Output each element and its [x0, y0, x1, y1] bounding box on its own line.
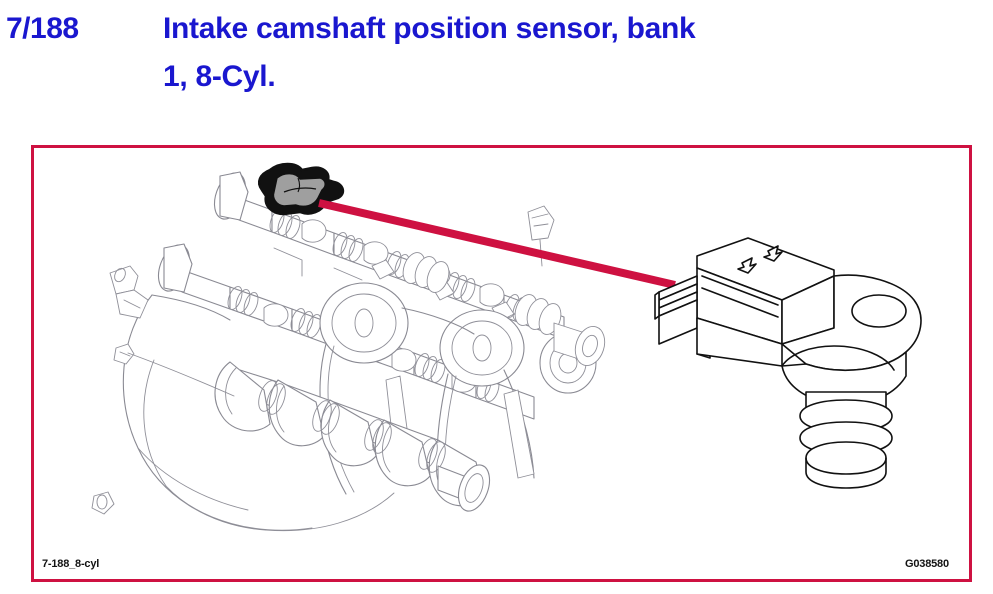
figure-caption-left: 7-188_8-cyl [42, 558, 99, 570]
fastener-details [92, 344, 234, 514]
title-number: 7/188 [6, 12, 79, 46]
figure-frame: .ln { fill:none; stroke:#8a8a93; stroke-… [31, 145, 972, 582]
camshaft-bracket-lug [110, 266, 148, 318]
figure-caption-right: G038580 [905, 558, 949, 570]
page-title: 7/188 Intake camshaft position sensor, b… [0, 12, 993, 122]
camshaft-position-sensor-detail [655, 238, 921, 488]
technical-illustration: .ln { fill:none; stroke:#8a8a93; stroke-… [34, 148, 969, 579]
title-line-1: Intake camshaft position sensor, bank [163, 12, 695, 46]
bolt-hole [852, 295, 906, 327]
sensor-body [800, 392, 892, 488]
title-line-2: 1, 8-Cyl. [163, 60, 275, 94]
engine-assembly-drawing [92, 169, 609, 531]
